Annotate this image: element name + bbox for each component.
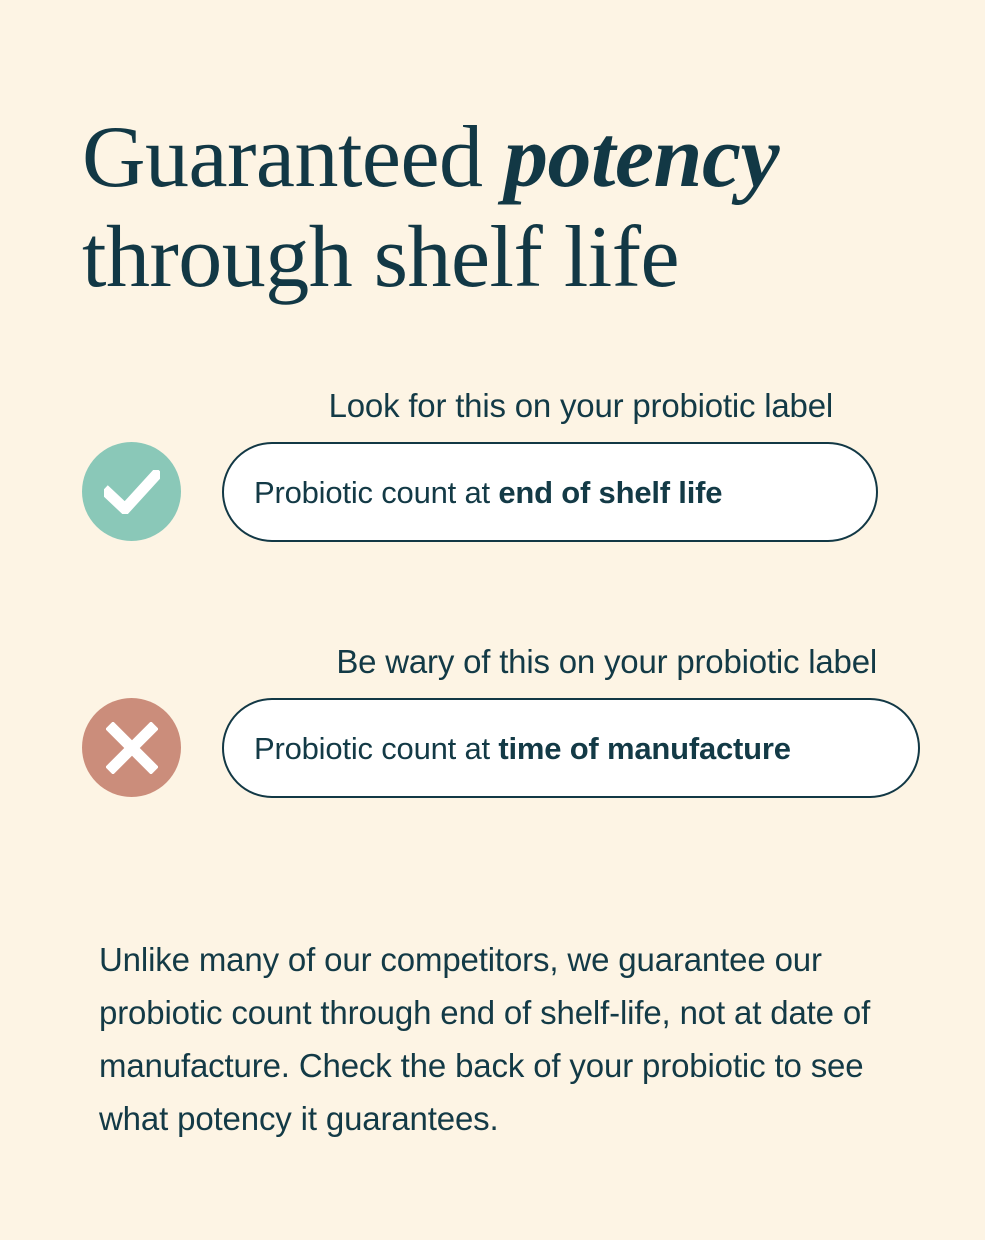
pill-time-of-manufacture[interactable]: Probiotic count at time of manufacture: [222, 698, 920, 798]
body-copy: Unlike many of our competitors, we guara…: [99, 933, 899, 1145]
row-bad-body: Probiotic count at time of manufacture: [0, 698, 985, 800]
row-bad: Be wary of this on your probiotic label …: [0, 641, 985, 800]
row-good-body: Probiotic count at end of shelf life: [0, 442, 985, 544]
pill-good-text-normal: Probiotic count at: [254, 475, 498, 510]
caption-good: Look for this on your probiotic label: [0, 385, 985, 427]
headline-line1-normal: Guaranteed: [82, 109, 504, 206]
pill-good-text-bold: end of shelf life: [498, 475, 722, 510]
caption-bad: Be wary of this on your probiotic label: [0, 641, 985, 683]
check-icon: [104, 470, 160, 514]
potency-infographic: Guaranteed potency through shelf life Lo…: [0, 0, 985, 1240]
x-badge: [82, 698, 181, 797]
pill-end-of-shelf-life[interactable]: Probiotic count at end of shelf life: [222, 442, 878, 542]
pill-bad-text: Probiotic count at time of manufacture: [224, 733, 791, 764]
pill-bad-text-normal: Probiotic count at: [254, 731, 498, 766]
page-title: Guaranteed potency through shelf life: [82, 108, 912, 309]
headline-emphasis-potency: potency: [504, 109, 779, 206]
pill-good-text: Probiotic count at end of shelf life: [224, 477, 722, 508]
pill-bad-text-bold: time of manufacture: [498, 731, 790, 766]
x-icon: [106, 722, 158, 774]
headline-line2: through shelf life: [82, 208, 912, 308]
row-good: Look for this on your probiotic label Pr…: [0, 385, 985, 544]
check-badge: [82, 442, 181, 541]
